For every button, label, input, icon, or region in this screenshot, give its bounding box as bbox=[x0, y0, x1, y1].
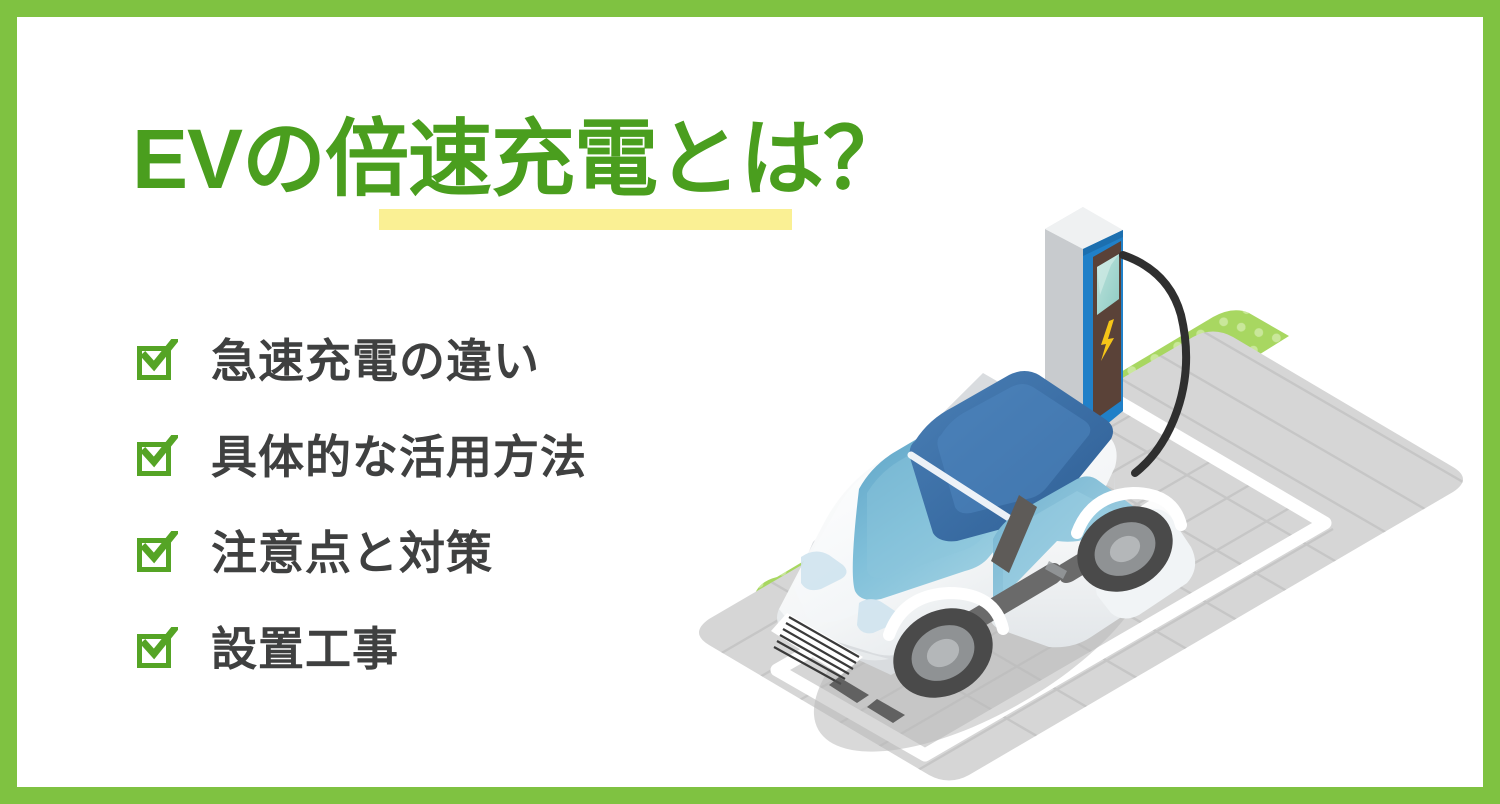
ev-charging-isometric-illustration bbox=[653, 205, 1483, 785]
page-title: EVの倍速充電とは？ bbox=[132, 99, 906, 219]
list-item-label: 急速充電の違い bbox=[211, 338, 540, 384]
title-block: EVの倍速充電とは？ bbox=[132, 99, 1132, 219]
list-item-label: 具体的な活用方法 bbox=[211, 434, 587, 480]
poster-frame: EVの倍速充電とは？ 急速充電の違い bbox=[0, 0, 1500, 804]
poster-inner: EVの倍速充電とは？ 急速充電の違い bbox=[17, 17, 1483, 787]
checkbox-checked-icon bbox=[135, 628, 177, 670]
checkbox-checked-icon bbox=[135, 532, 177, 574]
checkbox-checked-icon bbox=[135, 340, 177, 382]
list-item-label: 設置工事 bbox=[211, 626, 399, 672]
checkbox-checked-icon bbox=[135, 436, 177, 478]
list-item-label: 注意点と対策 bbox=[211, 530, 493, 576]
